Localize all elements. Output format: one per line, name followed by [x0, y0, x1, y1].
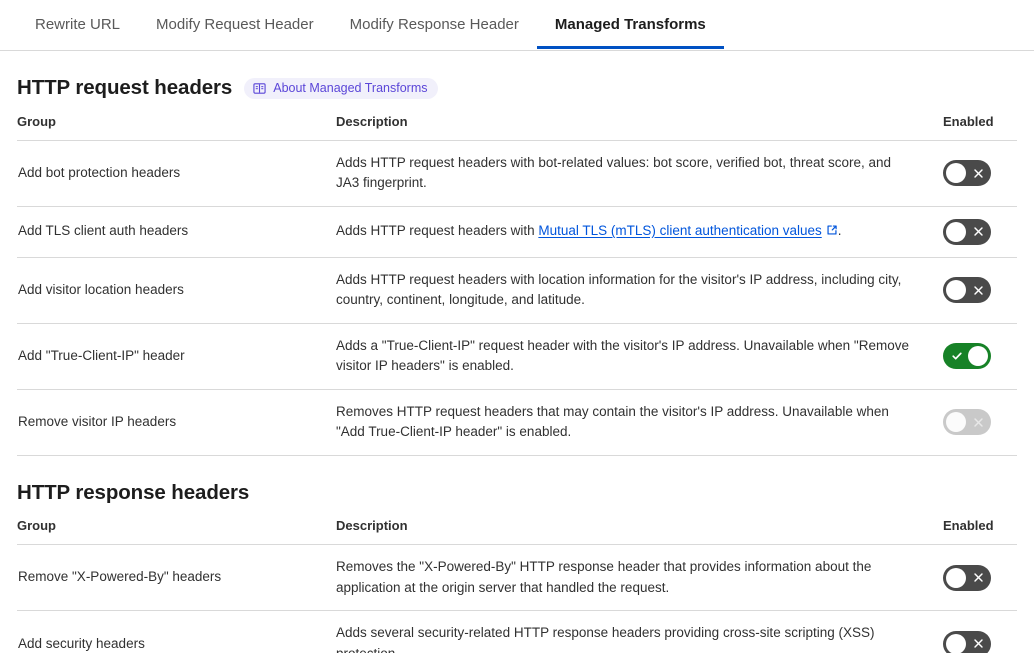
row-group-name: Remove "X-Powered-By" headers [17, 545, 322, 611]
table-row: Remove "X-Powered-By" headersRemoves the… [17, 545, 1017, 611]
column-header-description: Description [322, 114, 937, 141]
table-row: Add visitor location headersAdds HTTP re… [17, 257, 1017, 323]
toggle-state-icon [973, 219, 984, 245]
enabled-toggle[interactable] [943, 343, 991, 369]
column-header-group: Group [17, 114, 322, 141]
table-row: Add "True-Client-IP" headerAdds a "True-… [17, 323, 1017, 389]
row-enabled-cell [937, 545, 1017, 611]
section-title: HTTP request headers [17, 77, 232, 100]
toggle-knob [946, 634, 966, 653]
row-enabled-cell [937, 257, 1017, 323]
description-suffix: . [838, 223, 842, 238]
toggle-knob [946, 222, 966, 242]
toggle-state-icon [973, 631, 984, 653]
row-group-name: Add "True-Client-IP" header [17, 323, 322, 389]
toggle-knob [946, 163, 966, 183]
row-group-name: Add bot protection headers [17, 140, 322, 206]
table-header-row: GroupDescriptionEnabled [17, 518, 1017, 545]
mtls-docs-link[interactable]: Mutual TLS (mTLS) client authentication … [538, 223, 821, 238]
column-header-enabled: Enabled [937, 518, 1017, 545]
row-description: Adds several security-related HTTP respo… [322, 611, 937, 653]
section-header: HTTP request headersAbout Managed Transf… [17, 51, 1017, 114]
toggle-state-icon [951, 343, 963, 369]
table-row: Add security headersAdds several securit… [17, 611, 1017, 653]
description-text: Adds a "True-Client-IP" request header w… [336, 338, 909, 374]
toggle-knob [946, 280, 966, 300]
tab-managed-transforms[interactable]: Managed Transforms [537, 0, 724, 48]
row-enabled-cell [937, 206, 1017, 257]
toggle-knob [946, 412, 966, 432]
tab-modify-request-header[interactable]: Modify Request Header [138, 0, 332, 48]
section-title: HTTP response headers [17, 482, 249, 505]
enabled-toggle[interactable] [943, 277, 991, 303]
row-description: Adds HTTP request headers with bot-relat… [322, 140, 937, 206]
row-description: Removes HTTP request headers that may co… [322, 389, 937, 455]
toggle-state-icon [973, 409, 984, 435]
toggle-knob [968, 346, 988, 366]
enabled-toggle [943, 409, 991, 435]
toggle-knob [946, 568, 966, 588]
toggle-state-icon [973, 565, 984, 591]
row-group-name: Add security headers [17, 611, 322, 653]
table-row: Remove visitor IP headersRemoves HTTP re… [17, 389, 1017, 455]
column-header-group: Group [17, 518, 322, 545]
enabled-toggle[interactable] [943, 219, 991, 245]
tab-bar: Rewrite URLModify Request HeaderModify R… [0, 0, 1034, 51]
description-text: Adds HTTP request headers with location … [336, 272, 901, 308]
column-header-enabled: Enabled [937, 114, 1017, 141]
description-text: Removes the "X-Powered-By" HTTP response… [336, 559, 871, 595]
external-link-icon[interactable] [826, 222, 838, 243]
toggle-state-icon [973, 277, 984, 303]
about-managed-transforms-badge[interactable]: About Managed Transforms [244, 78, 438, 99]
managed-transforms-table: GroupDescriptionEnabledAdd bot protectio… [17, 114, 1017, 456]
row-description: Adds HTTP request headers with location … [322, 257, 937, 323]
section-0: HTTP request headersAbout Managed Transf… [17, 51, 1017, 456]
description-text: Removes HTTP request headers that may co… [336, 404, 889, 440]
row-description: Removes the "X-Powered-By" HTTP response… [322, 545, 937, 611]
row-description: Adds a "True-Client-IP" request header w… [322, 323, 937, 389]
row-description: Adds HTTP request headers with Mutual TL… [322, 206, 937, 257]
description-text: Adds HTTP request headers with bot-relat… [336, 155, 891, 191]
description-text: Adds HTTP request headers with [336, 223, 538, 238]
toggle-state-icon [973, 160, 984, 186]
managed-transforms-content: HTTP request headersAbout Managed Transf… [0, 51, 1034, 653]
table-header-row: GroupDescriptionEnabled [17, 114, 1017, 141]
row-enabled-cell [937, 323, 1017, 389]
row-enabled-cell [937, 611, 1017, 653]
enabled-toggle[interactable] [943, 631, 991, 653]
about-badge-label: About Managed Transforms [273, 82, 427, 95]
table-row: Add bot protection headersAdds HTTP requ… [17, 140, 1017, 206]
book-icon [253, 82, 266, 95]
row-enabled-cell [937, 140, 1017, 206]
tab-modify-response-header[interactable]: Modify Response Header [332, 0, 537, 48]
section-1: HTTP response headersGroupDescriptionEna… [17, 456, 1017, 653]
table-row: Add TLS client auth headersAdds HTTP req… [17, 206, 1017, 257]
column-header-description: Description [322, 518, 937, 545]
tab-rewrite-url[interactable]: Rewrite URL [17, 0, 138, 48]
row-group-name: Add visitor location headers [17, 257, 322, 323]
section-header: HTTP response headers [17, 456, 1017, 519]
enabled-toggle[interactable] [943, 160, 991, 186]
managed-transforms-table: GroupDescriptionEnabledRemove "X-Powered… [17, 518, 1017, 653]
row-group-name: Add TLS client auth headers [17, 206, 322, 257]
row-group-name: Remove visitor IP headers [17, 389, 322, 455]
description-text: Adds several security-related HTTP respo… [336, 625, 874, 653]
row-enabled-cell [937, 389, 1017, 455]
enabled-toggle[interactable] [943, 565, 991, 591]
